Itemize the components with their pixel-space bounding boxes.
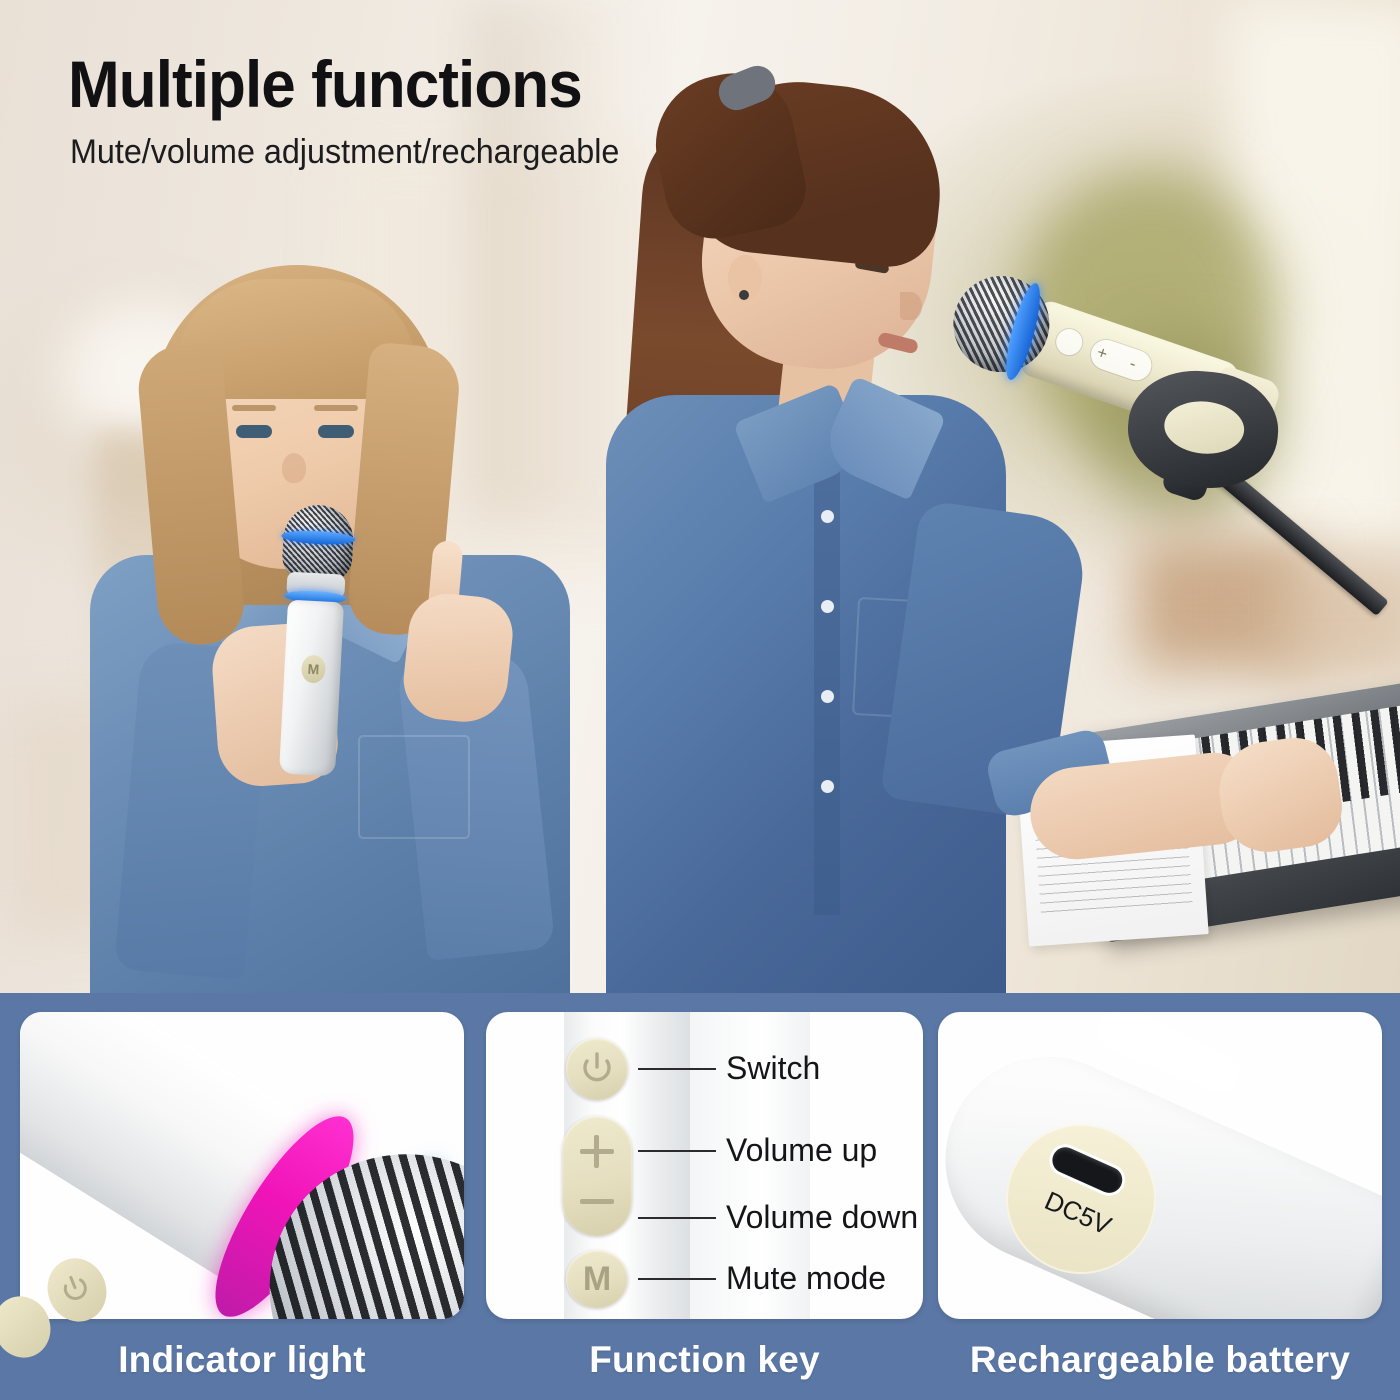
- callout-line-switch: [638, 1068, 716, 1070]
- mic-clip-opening: [1162, 398, 1246, 457]
- callout-label-switch: Switch: [726, 1050, 820, 1087]
- girl2-shirt-button: [821, 780, 834, 793]
- girl1-eyebrow-right: [314, 405, 358, 411]
- girl2-shirt-button: [821, 690, 834, 703]
- callout-label-volume-down: Volume down: [726, 1199, 918, 1236]
- power-icon: [580, 1051, 614, 1087]
- minus-icon[interactable]: [580, 1184, 614, 1218]
- caption-rechargeable-battery: Rechargeable battery: [938, 1336, 1382, 1384]
- girl1-eye-left: [236, 425, 272, 438]
- girl2-shirt-button: [821, 510, 834, 523]
- girl1-eyebrow-left: [232, 405, 276, 411]
- volume-rocker-button[interactable]: [562, 1116, 632, 1236]
- panel-function-key: M Switch Volume up Volume down Mute mode: [486, 1012, 923, 1319]
- callout-line-volume-up: [638, 1150, 716, 1152]
- girl1-eye-right: [318, 425, 354, 438]
- callout-line-volume-down: [638, 1217, 716, 1219]
- girl2-earring: [739, 290, 749, 300]
- microphone-on-stand: + -: [930, 300, 1400, 740]
- caption-function-key: Function key: [486, 1336, 923, 1384]
- mic-handle: [279, 600, 344, 777]
- callout-line-mute: [638, 1278, 716, 1280]
- mute-button[interactable]: M: [566, 1250, 628, 1308]
- girl2-shirt-button: [821, 600, 834, 613]
- girl1-shirt-pocket: [358, 735, 470, 839]
- page-subtitle: Mute/volume adjustment/rechargeable: [70, 133, 619, 172]
- girl2-nose: [900, 292, 922, 320]
- callout-label-mute-mode: Mute mode: [726, 1260, 886, 1297]
- port-label: DC5V: [1017, 1175, 1139, 1252]
- power-button[interactable]: [566, 1038, 628, 1100]
- handheld-microphone: M: [261, 503, 365, 777]
- page-title: Multiple functions: [68, 46, 582, 122]
- plus-icon[interactable]: [580, 1134, 614, 1168]
- callout-label-volume-up: Volume up: [726, 1132, 877, 1169]
- panel-rechargeable-battery: DC5V: [938, 1012, 1382, 1319]
- girl1-nose: [282, 453, 306, 483]
- caption-indicator-light: Indicator light: [20, 1336, 464, 1384]
